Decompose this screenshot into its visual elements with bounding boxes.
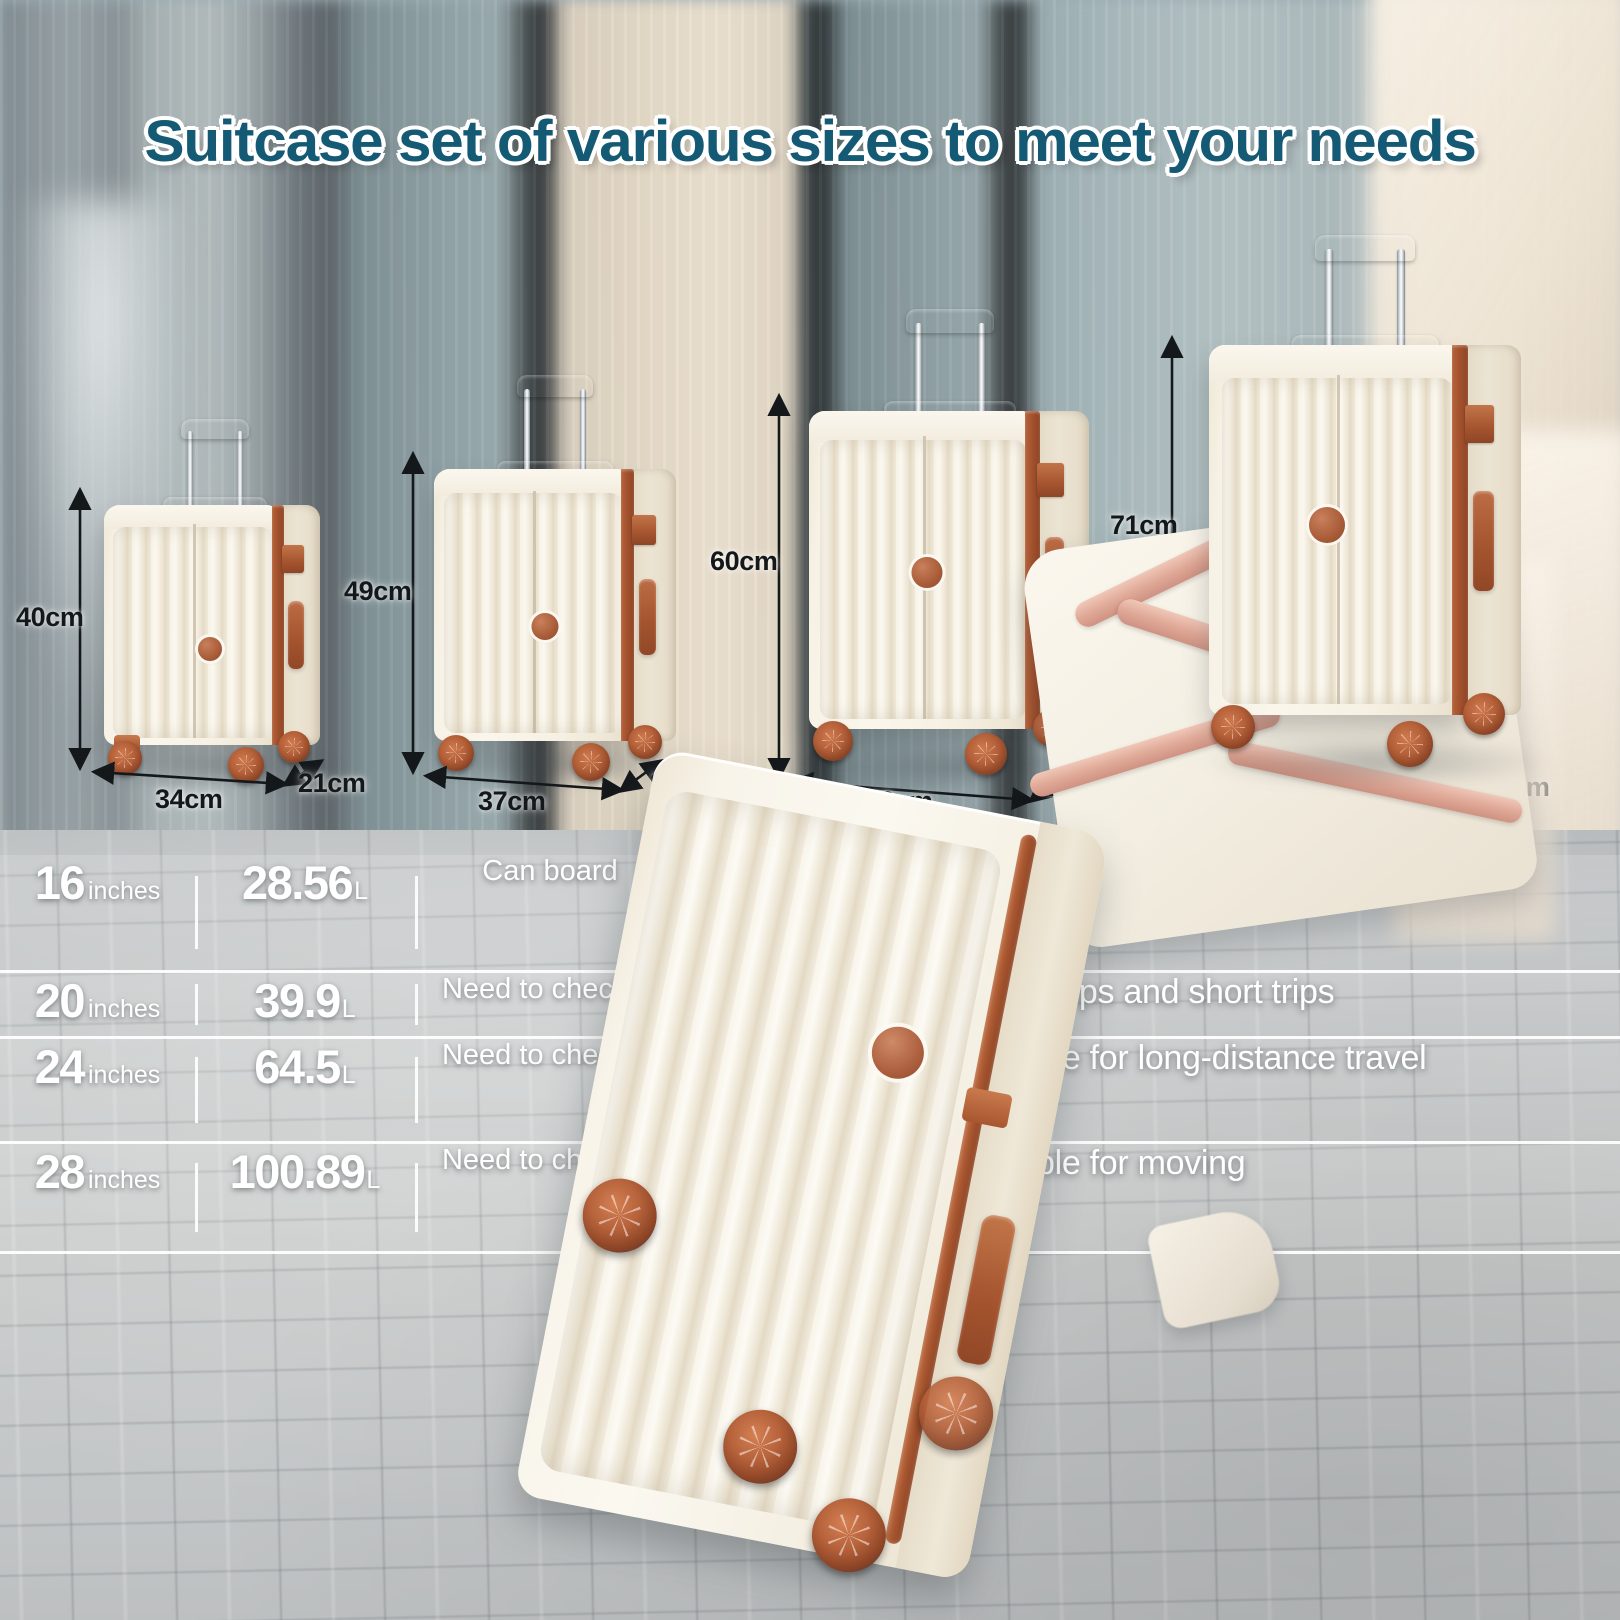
suitcase-4-wheel-front-right [1387, 721, 1433, 767]
suitcase-2-height-label: 49cm [344, 576, 411, 607]
row-3-size-unit: inches [88, 1061, 160, 1090]
suitcase-4-tsa-lock [1465, 405, 1494, 443]
row-3-size-value: 24 [35, 1039, 84, 1094]
suitcase-4-wheel-front-left [1211, 705, 1255, 749]
suitcase-1-depth-label: 21cm [298, 768, 365, 799]
row-4-size-unit: inches [88, 1166, 160, 1195]
suitcase-4-shadow [1199, 735, 1551, 789]
row-2-capacity-cell: 39.9 L [195, 973, 415, 1036]
suitcase-4-zipper [1452, 345, 1468, 715]
row-1-size-unit: inches [88, 877, 160, 906]
suitcase-1-width-label: 34cm [155, 784, 222, 815]
row-2-size-unit: inches [88, 995, 160, 1024]
row-4-capacity-value: 100.89 [230, 1144, 365, 1199]
suitcase-4 [1205, 235, 1525, 780]
row-1-capacity-cell: 28.56 L [195, 855, 415, 970]
row-3-capacity-unit: L [342, 1061, 356, 1090]
row-1-capacity-value: 28.56 [242, 855, 352, 910]
suitcase-4-wheel-back-right [1463, 693, 1505, 735]
suitcase-4-side-handle [1473, 491, 1494, 591]
suitcase-2-width-label: 37cm [478, 786, 545, 817]
infographic-canvas: Suitcase set of various sizes to meet yo… [0, 0, 1620, 1620]
suitcase-1-height-label: 40cm [16, 602, 83, 633]
row-1-boarding-text: Can board [482, 855, 617, 888]
suitcase-4-handle-grip [1315, 235, 1415, 261]
row-3-capacity-value: 64.5 [254, 1039, 339, 1094]
row-2-size-value: 20 [35, 973, 84, 1028]
row-2-capacity-unit: L [342, 995, 356, 1024]
suitcase-4-logo-badge [1309, 507, 1345, 543]
suitcase-3-height-label: 60cm [710, 546, 777, 577]
row-4-capacity-cell: 100.89 L [195, 1144, 415, 1251]
row-4-size-value: 28 [35, 1144, 84, 1199]
row-4-size-cell: 28 inches [0, 1144, 195, 1251]
row-2-capacity-value: 39.9 [254, 973, 339, 1028]
row-3-capacity-cell: 64.5 L [195, 1039, 415, 1141]
row-3-size-cell: 24 inches [0, 1039, 195, 1141]
row-2-size-cell: 20 inches [0, 973, 195, 1036]
row-4-capacity-unit: L [366, 1166, 380, 1195]
row-1-size-cell: 16 inches [0, 855, 195, 970]
row-1-size-value: 16 [35, 855, 84, 910]
row-1-capacity-unit: L [354, 877, 368, 906]
